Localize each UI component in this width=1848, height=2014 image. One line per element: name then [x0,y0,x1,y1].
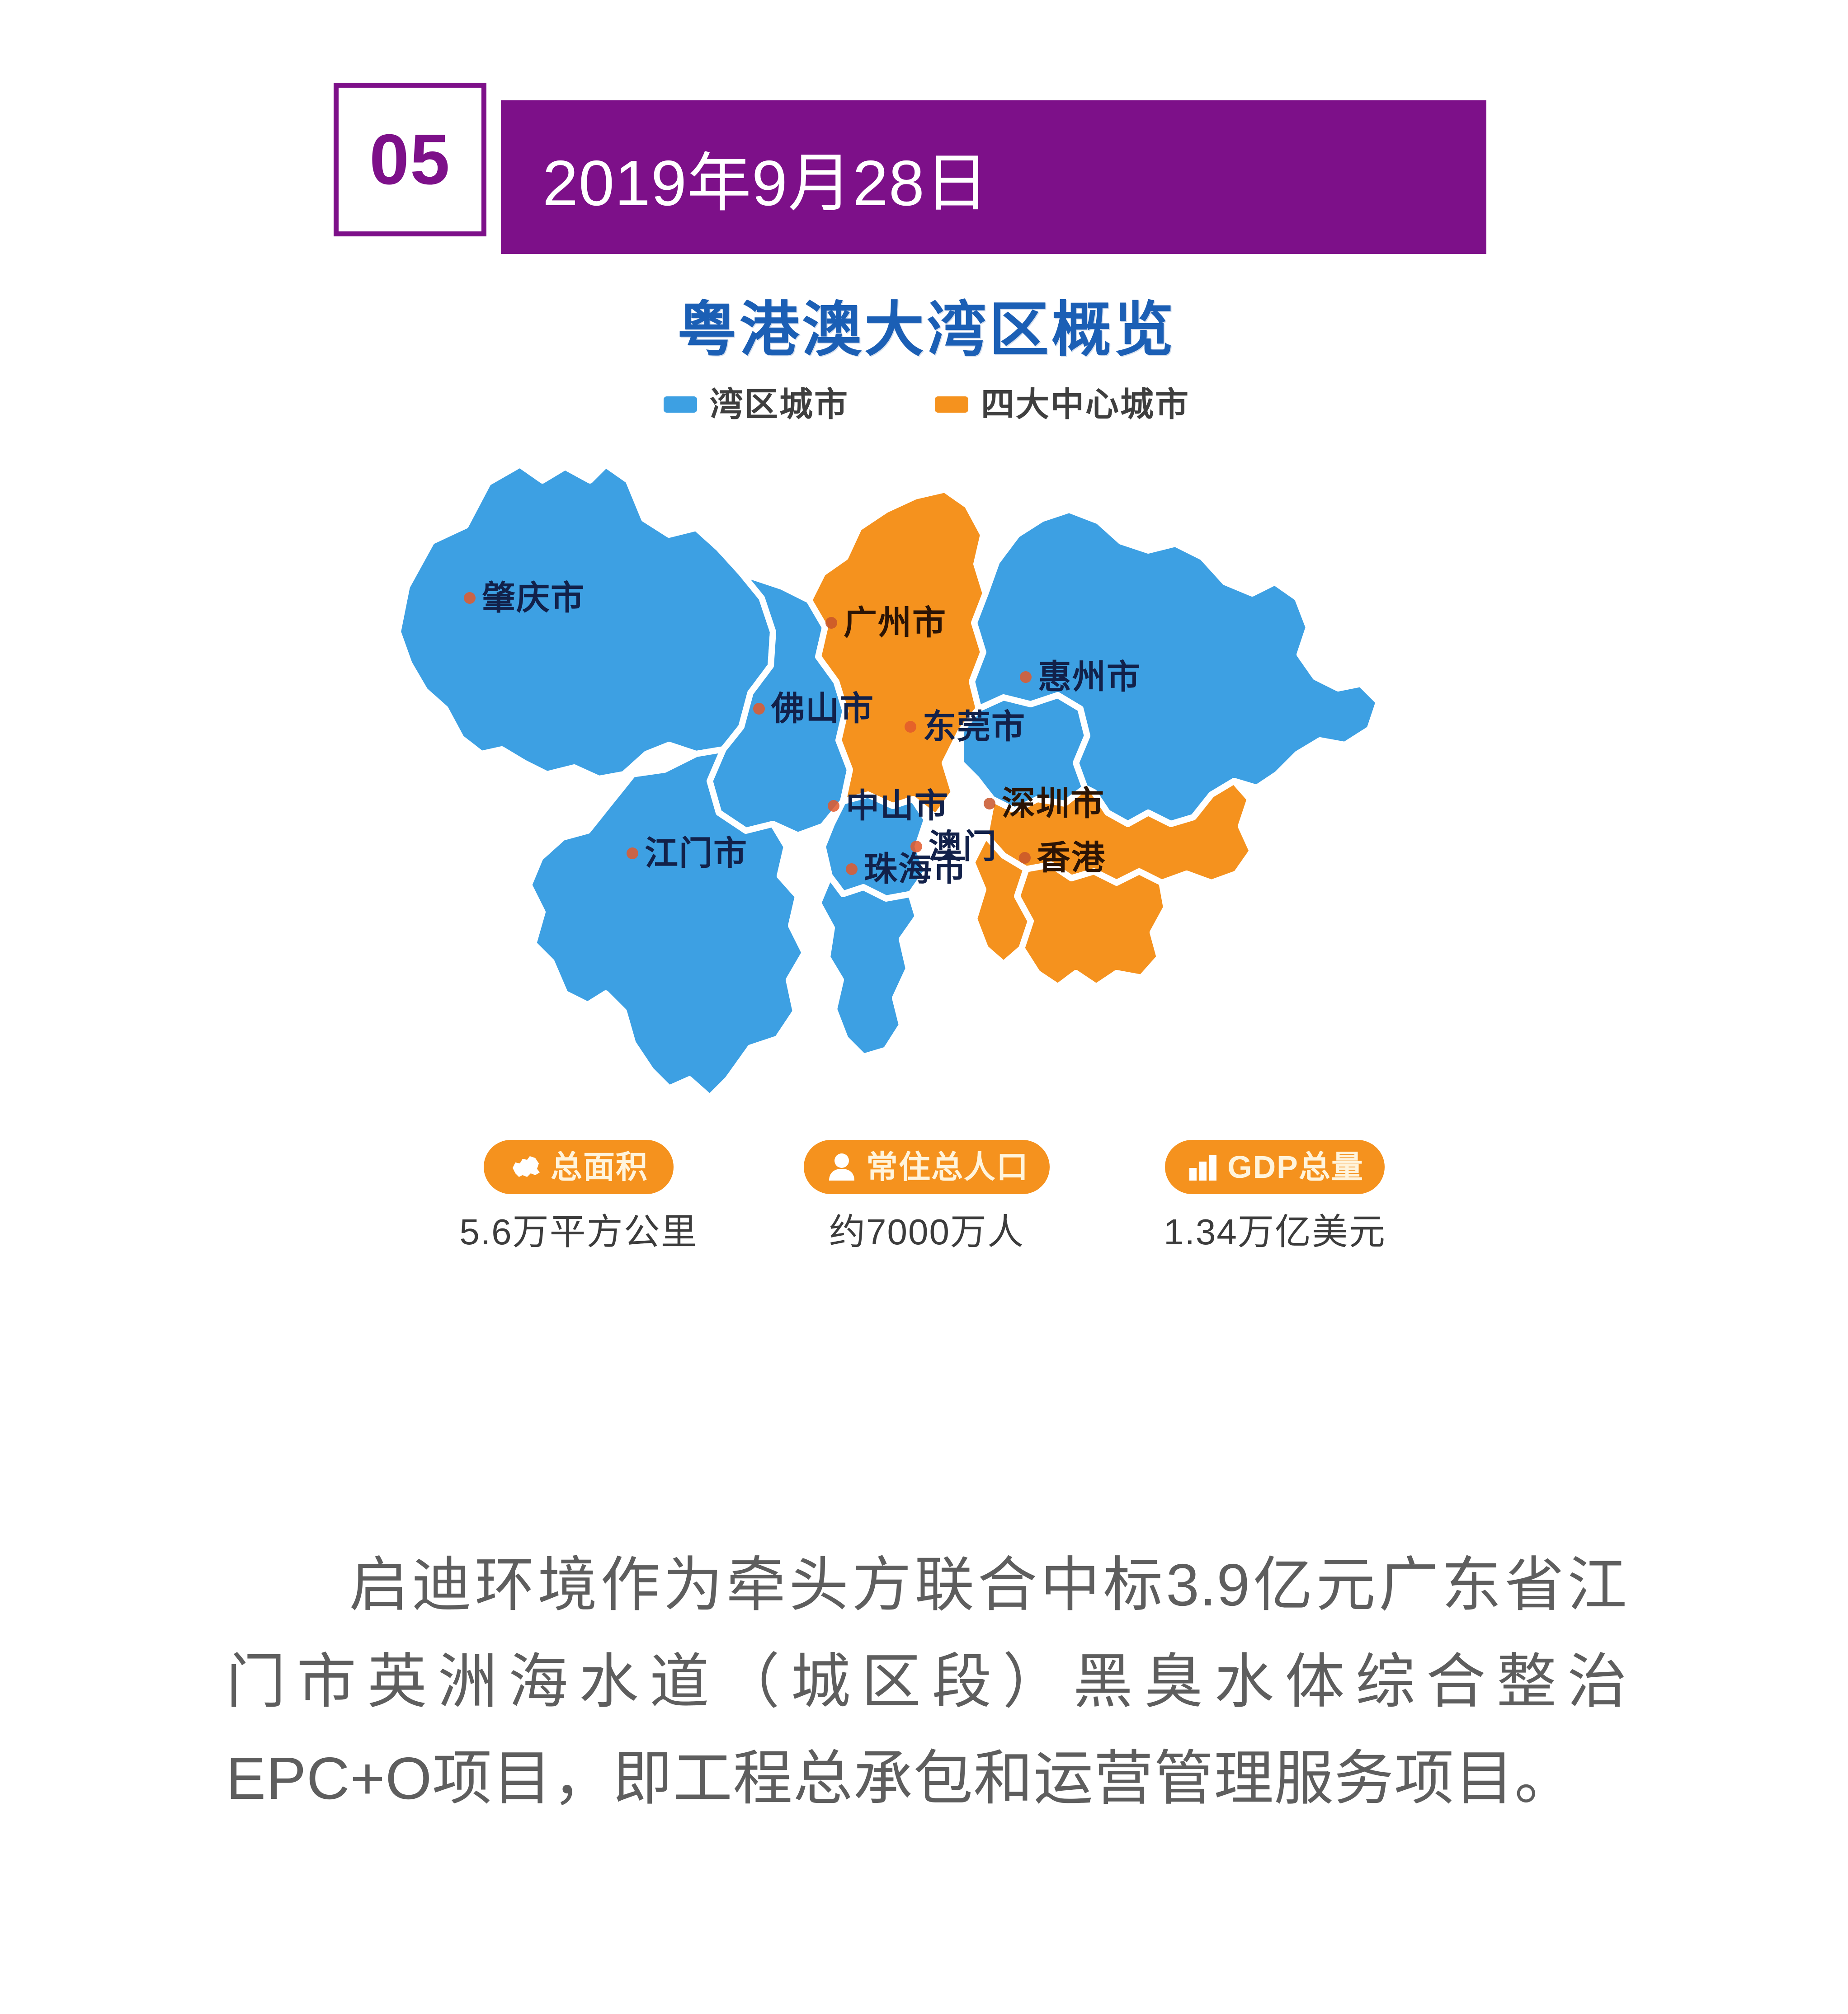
city-label: 东莞市 [923,710,1026,743]
city-label: 广州市 [844,606,947,640]
city-marker-dot-icon [1019,852,1031,864]
stat-value-gdp: 1.34万亿美元 [1164,1214,1386,1250]
city-marker-dot-icon [825,617,837,629]
stat-value-population: 约7000万人 [829,1214,1024,1250]
map-city-zhuhai: 珠海市 [846,852,967,886]
legend-item-core-cities: 四大中心城市 [935,388,1190,421]
blue-square-swatch-icon [664,396,697,413]
stats-row: 总面积 5.6万平方公里 常住总人口 约7000万人 [353,1140,1501,1250]
infographic-card: 粤港澳大湾区概览 湾区城市 四大中心城市 [353,289,1501,1446]
legend-label-core-cities: 四大中心城市 [981,388,1190,421]
page-header: 05 2019年9月28日 [0,0,1848,280]
city-marker-dot-icon [627,847,638,859]
infographic-title: 粤港澳大湾区概览 [353,296,1501,364]
stat-badge-gdp: GDP总量 [1165,1140,1385,1194]
map-city-jiangmen: 江门市 [627,837,748,870]
city-marker-dot-icon [1020,671,1032,683]
map-region-zhaoqing [398,465,773,779]
city-label: 江门市 [645,837,748,870]
city-label: 珠海市 [864,852,967,886]
map-area-icon [509,1150,543,1184]
stat-total-area: 总面积 5.6万平方公里 [438,1140,719,1250]
person-icon [825,1150,859,1184]
stat-label-gdp: GDP总量 [1227,1151,1364,1183]
map-regions-svg [353,438,1501,1120]
header-date: 2019年9月28日 [542,100,990,254]
map-legend: 湾区城市 四大中心城市 [353,388,1501,421]
map-city-shenzhen: 深圳市 [984,787,1105,820]
article-paragraph: 启迪环境作为牵头方联合中标3.9亿元广东省江门市英洲海水道（城区段）黑臭水体综合… [226,1537,1627,1826]
stat-value-total-area: 5.6万平方公里 [459,1214,698,1250]
stat-badge-total-area: 总面积 [484,1140,674,1194]
section-number: 05 [339,88,481,231]
city-marker-dot-icon [905,721,916,733]
map-city-guangzhou: 广州市 [825,606,947,640]
city-label: 中山市 [846,789,949,823]
stat-badge-population: 常住总人口 [804,1140,1050,1194]
section-number-box: 05 [334,83,486,236]
bar-chart-icon [1186,1150,1220,1184]
map-city-foshan: 佛山市 [753,692,874,725]
map-city-zhaoqing: 肇庆市 [464,581,585,615]
city-label: 深圳市 [1002,787,1105,820]
city-marker-dot-icon [464,592,476,604]
greater-bay-area-map: 肇庆市 广州市 佛山市 惠州市 东莞市 中山市 深圳市 江门市 [353,438,1501,1120]
city-marker-dot-icon [984,798,995,809]
city-label: 惠州市 [1038,660,1141,694]
map-city-zhongshan: 中山市 [828,789,949,823]
city-marker-dot-icon [753,703,765,715]
map-region-hongkong [1017,865,1166,987]
stat-label-total-area: 总面积 [551,1151,648,1183]
map-city-huizhou: 惠州市 [1020,660,1141,694]
map-city-hongkong: 香港 [1019,841,1106,875]
stat-label-population: 常住总人口 [866,1151,1029,1183]
orange-square-swatch-icon [935,396,968,413]
legend-item-bay-cities: 湾区城市 [664,388,849,421]
article-body: 启迪环境作为牵头方联合中标3.9亿元广东省江门市英洲海水道（城区段）黑臭水体综合… [226,1537,1627,1826]
city-label: 香港 [1037,841,1106,875]
map-city-dongguan: 东莞市 [905,710,1026,743]
stat-gdp: GDP总量 1.34万亿美元 [1135,1140,1415,1250]
city-label: 肇庆市 [482,581,585,615]
map-region-zhuhai [818,876,918,1057]
city-label: 佛山市 [771,692,874,725]
city-marker-dot-icon [846,863,858,875]
legend-label-bay-cities: 湾区城市 [710,388,849,421]
city-marker-dot-icon [828,800,839,812]
stat-population: 常住总人口 约7000万人 [787,1140,1067,1250]
